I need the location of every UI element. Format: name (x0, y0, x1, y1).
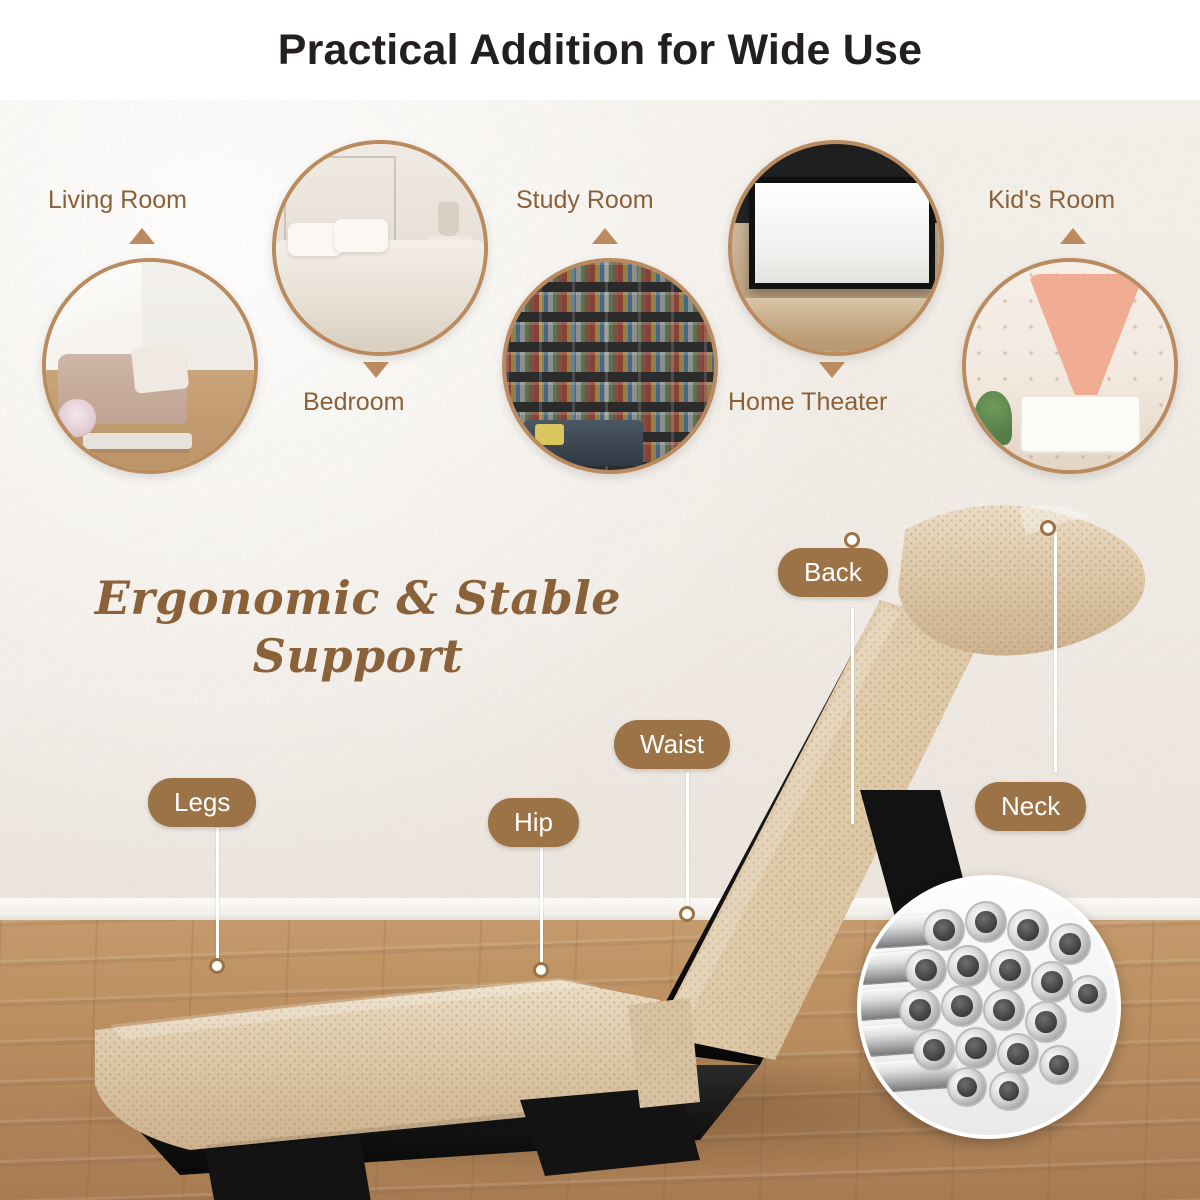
leader-line-hip (540, 848, 543, 972)
bedroom-photo (272, 140, 488, 356)
leader-dot-back (844, 532, 860, 548)
callout-back[interactable]: Back (778, 548, 888, 597)
leader-dot-waist (679, 906, 695, 922)
study-room-photo (502, 258, 718, 474)
metal-frame-photo (857, 875, 1121, 1139)
callout-waist[interactable]: Waist (614, 720, 730, 769)
product-infographic: Practical Addition for Wide Use Living R… (0, 0, 1200, 1200)
pointer-triangle-up-kids-room (1060, 228, 1086, 244)
leader-dot-neck (1040, 520, 1056, 536)
leader-dot-legs (209, 958, 225, 974)
use-case-label-kids-room: Kid's Room (988, 186, 1115, 215)
use-case-label-study-room: Study Room (516, 186, 654, 215)
home-theater-photo (728, 140, 944, 356)
leader-line-back (851, 608, 854, 824)
leader-line-legs (216, 828, 219, 968)
pointer-triangle-up-living-room (129, 228, 155, 244)
kids-room-photo (962, 258, 1178, 474)
pointer-triangle-down-bedroom (363, 362, 389, 378)
callout-neck[interactable]: Neck (975, 782, 1086, 831)
leader-dot-hip (533, 962, 549, 978)
use-case-label-bedroom: Bedroom (303, 388, 404, 417)
pointer-triangle-up-study-room (592, 228, 618, 244)
callout-legs[interactable]: Legs (148, 778, 256, 827)
page-title: Practical Addition for Wide Use (278, 26, 923, 75)
use-case-label-home-theater: Home Theater (728, 388, 887, 417)
leader-line-waist (686, 772, 689, 914)
leader-line-neck (1054, 532, 1057, 772)
ergonomic-headline: Ergonomic & Stable Support (78, 570, 638, 686)
scene: Living Room (0, 100, 1200, 1200)
use-case-row: Living Room (0, 100, 1200, 520)
living-room-photo (42, 258, 258, 474)
use-case-label-living-room: Living Room (48, 186, 187, 215)
callout-hip[interactable]: Hip (488, 798, 579, 847)
ergonomic-headline-line2: Support (78, 628, 638, 686)
pointer-triangle-down-home-theater (819, 362, 845, 378)
ergonomic-headline-line1: Ergonomic & Stable (78, 570, 638, 628)
header-bar: Practical Addition for Wide Use (0, 0, 1200, 100)
